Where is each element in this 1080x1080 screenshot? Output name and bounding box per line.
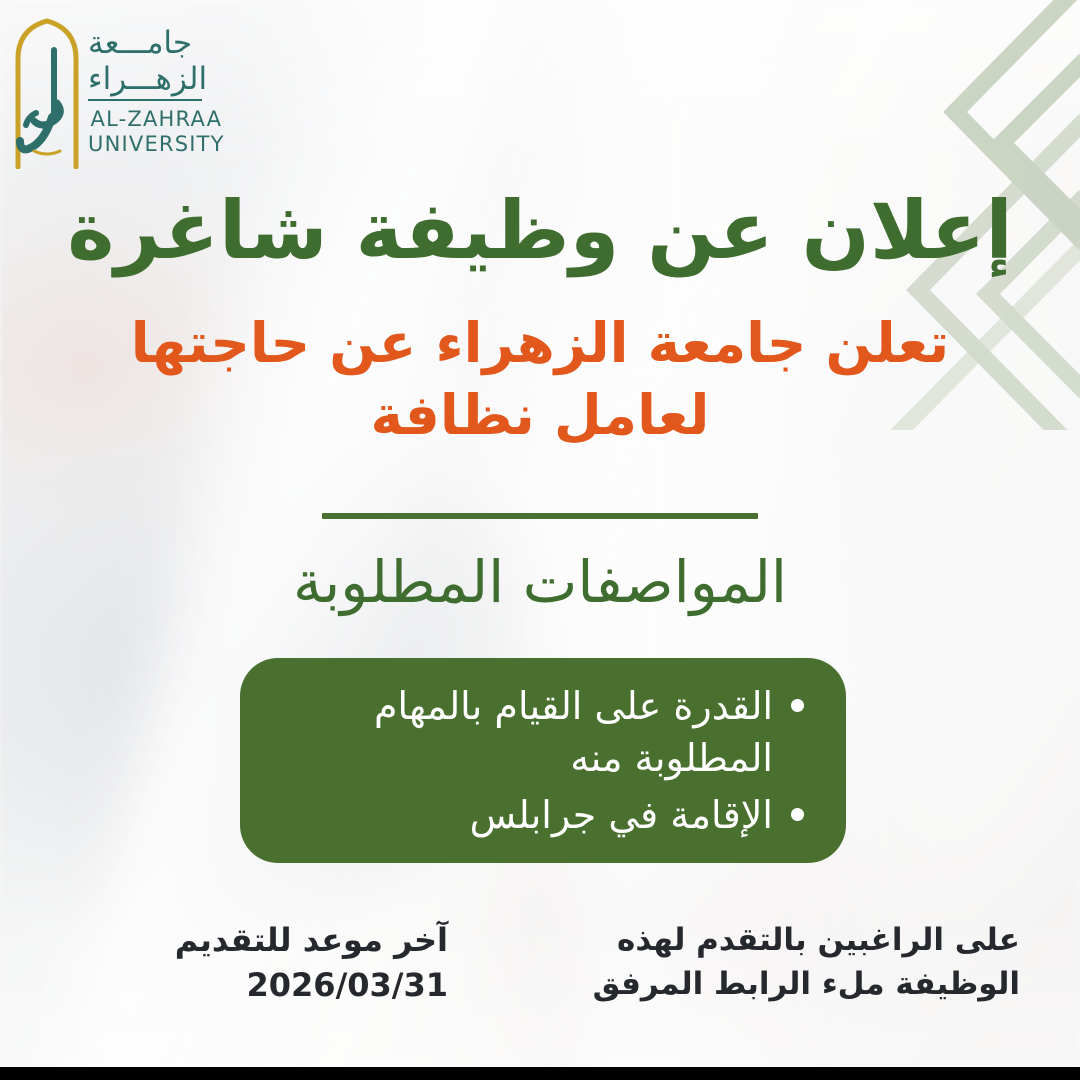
bottom-bar [0, 1067, 1080, 1080]
logo-wordmark: جامـــعة الزهـــراء AL-ZAHRAA UNIVERSITY [88, 28, 225, 158]
list-item: القدرة على القيام بالمهام المطلوبة منه [280, 680, 804, 785]
deadline-label: آخر موعد للتقديم [175, 921, 448, 959]
requirement-text: القدرة على القيام بالمهام المطلوبة منه [280, 680, 773, 785]
bullet-icon [791, 808, 804, 821]
section-divider [322, 513, 758, 519]
logo-english-line2: UNIVERSITY [88, 132, 225, 156]
subheading-line2: لعامل نظافة [120, 380, 960, 452]
deadline-block: آخر موعد للتقديم 2026/03/31 [118, 918, 448, 1009]
subheading: تعلن جامعة الزهراء عن حاجتها لعامل نظافة [120, 308, 960, 451]
logo-english-line1: AL-ZAHRAA [91, 107, 223, 131]
apply-instructions: على الراغبين بالتقدم لهذه الوظيفة ملء ال… [560, 918, 1020, 1006]
logo-arabic-line2: الزهـــراء [88, 64, 207, 95]
logo-divider [88, 99, 202, 101]
bullet-icon [791, 699, 804, 712]
requirement-text: الإقامة في جرابلس [280, 789, 773, 841]
requirements-box: القدرة على القيام بالمهام المطلوبة منه ا… [240, 658, 846, 863]
page-title: إعلان عن وظيفة شاغرة [0, 186, 1080, 276]
deadline-date: 2026/03/31 [118, 963, 448, 1008]
university-logo: جامـــعة الزهـــراء AL-ZAHRAA UNIVERSITY [8, 14, 218, 172]
logo-arabic-line1: جامـــعة [88, 28, 192, 59]
subheading-line1: تعلن جامعة الزهراء عن حاجتها [131, 311, 949, 375]
job-vacancy-poster: جامـــعة الزهـــراء AL-ZAHRAA UNIVERSITY… [0, 0, 1080, 1080]
list-item: الإقامة في جرابلس [280, 789, 804, 841]
arch-calligraphy-logo-icon [8, 17, 86, 169]
section-title: المواصفات المطلوبة [0, 548, 1080, 616]
